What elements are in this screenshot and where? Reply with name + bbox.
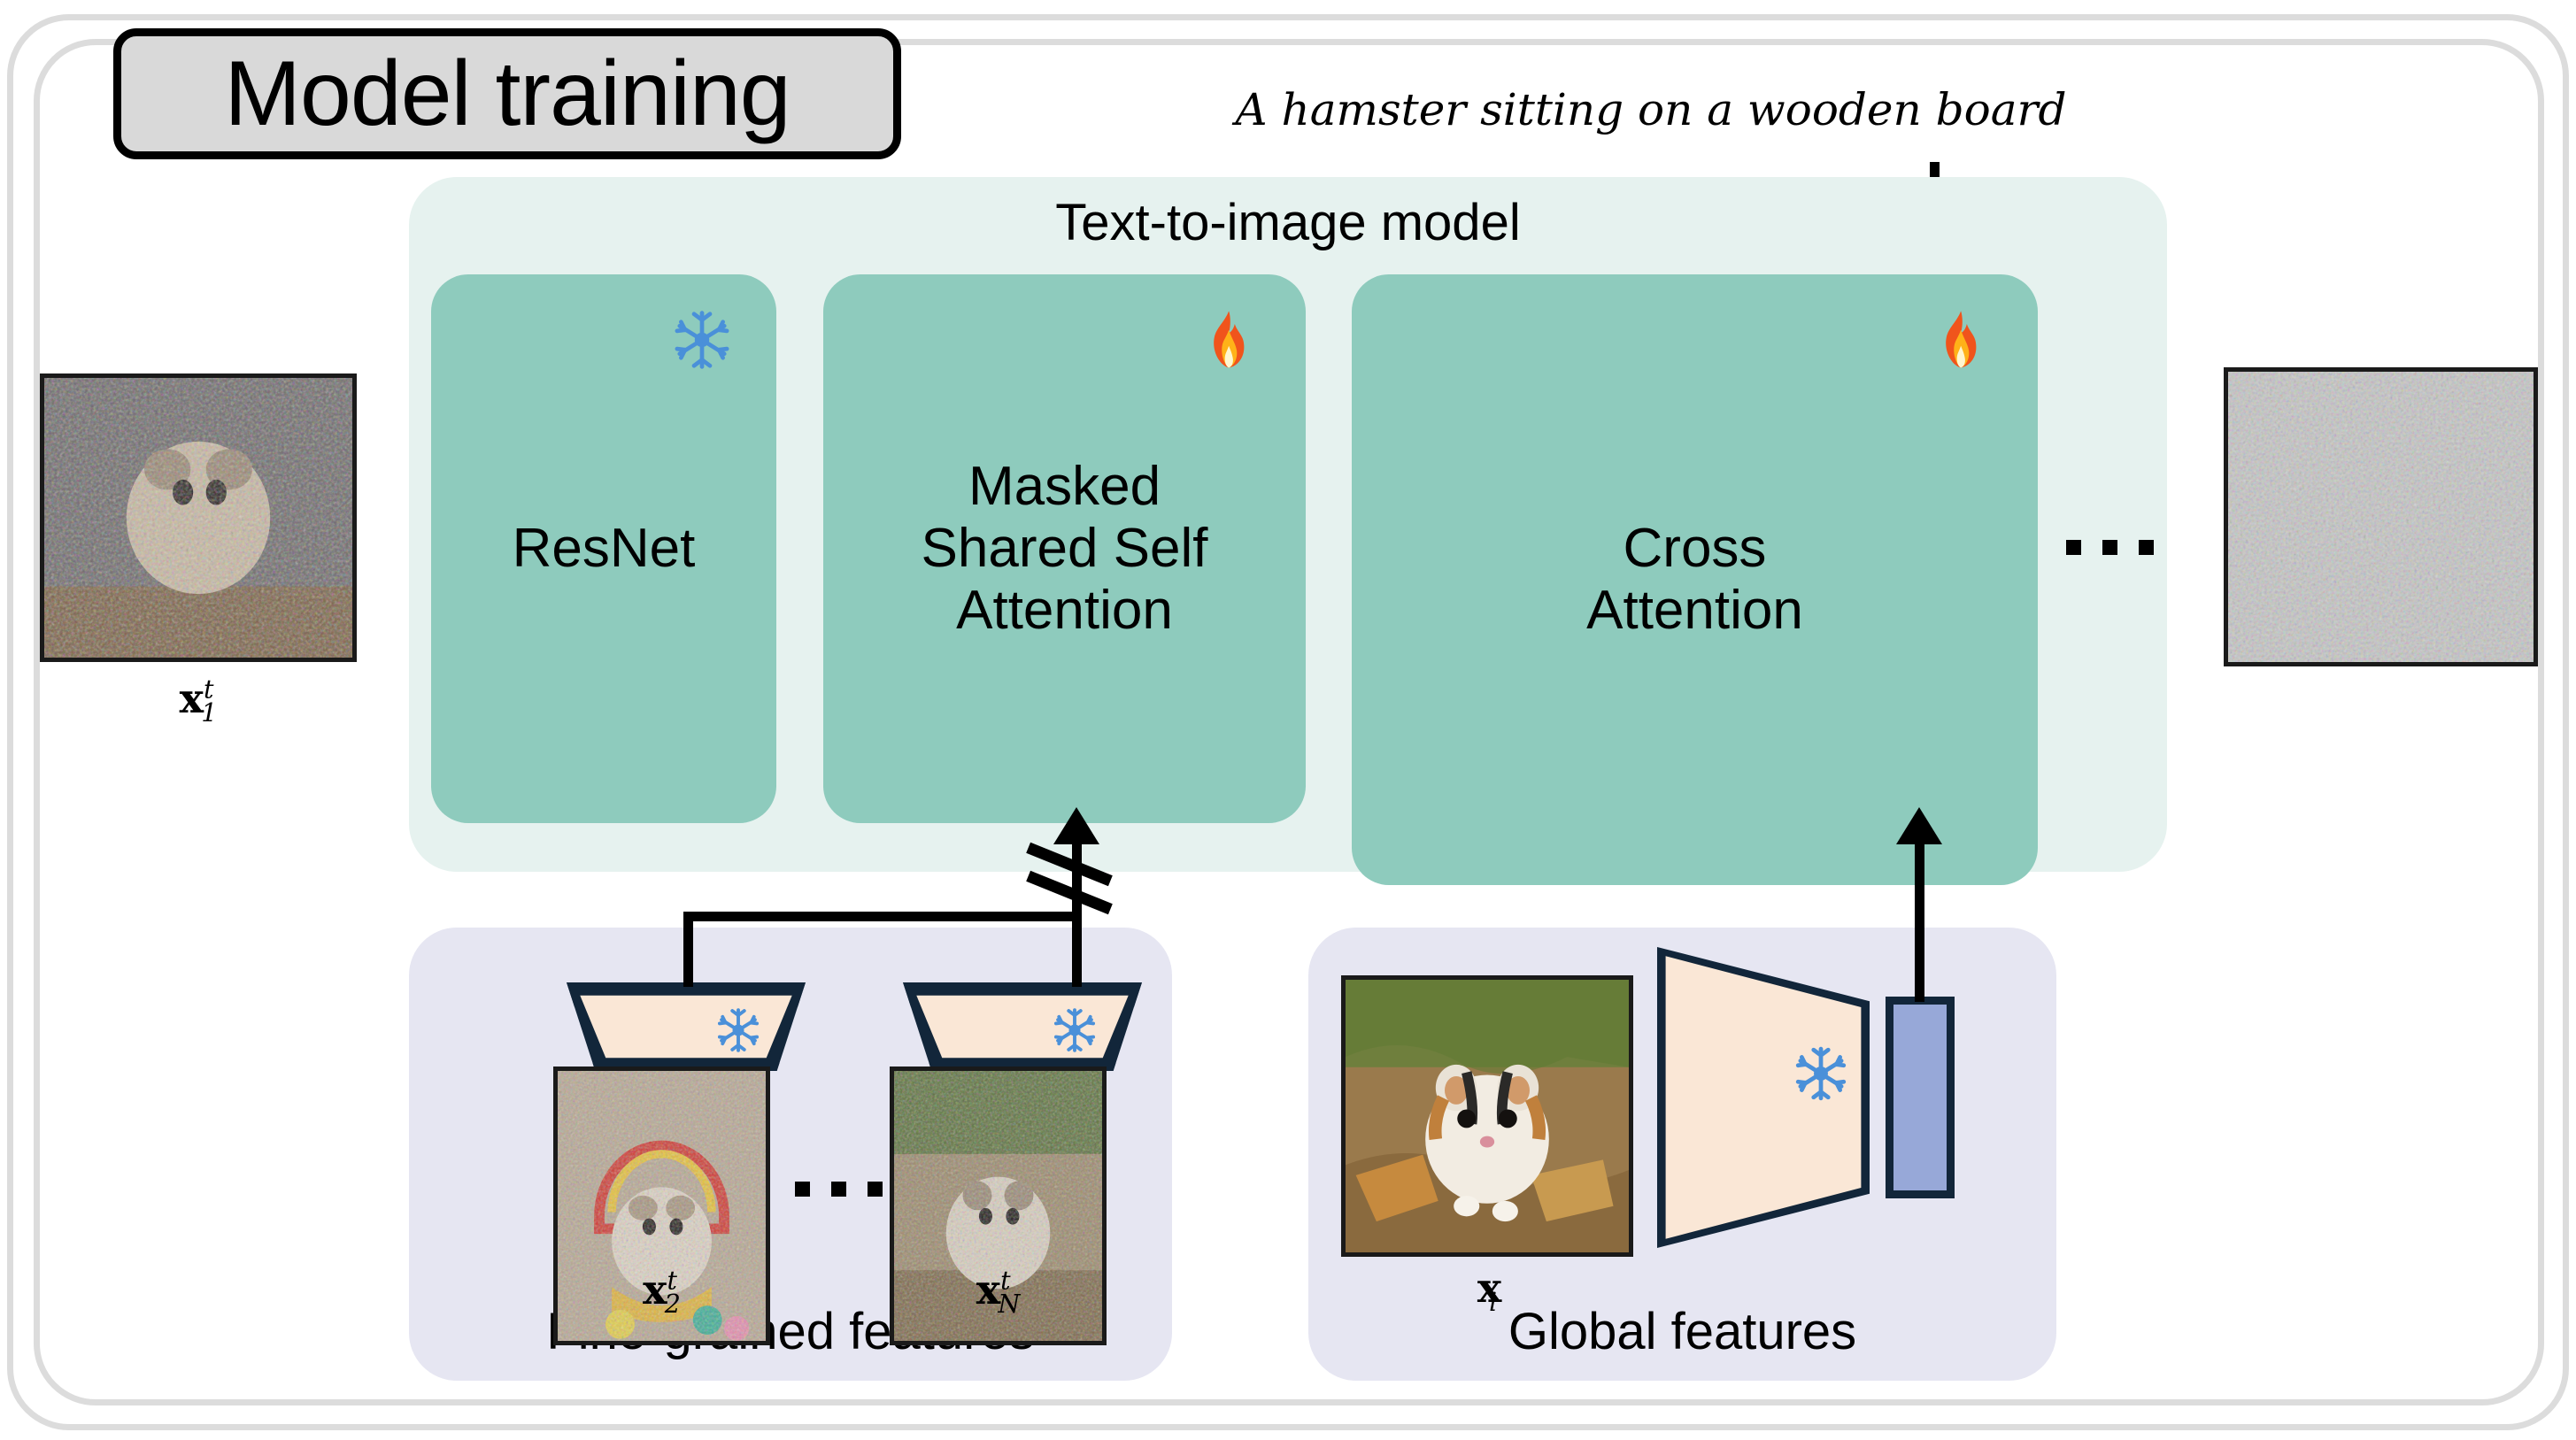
diagram-canvas: Model training A hamster sitting on a wo… — [0, 0, 2576, 1440]
fine-connector-bus — [683, 912, 1082, 921]
caption-base: x — [643, 1266, 667, 1313]
caption-sub: 2 — [665, 1290, 681, 1319]
module-masked-label: Masked Shared Self Attention — [913, 456, 1217, 642]
prompt-text: A hamster sitting on a wooden board — [1191, 84, 2111, 135]
snowflake-icon — [1792, 1044, 1850, 1107]
fire-icon — [1196, 308, 1260, 372]
fine-connector-arrowhead — [1053, 807, 1099, 844]
module-resnet-label: ResNet — [504, 518, 705, 580]
fine-grained-caption-2: xt2 — [553, 1266, 770, 1319]
caption-base: x — [180, 674, 204, 722]
model-panel-label: Text-to-image model — [409, 193, 2167, 252]
model-panel-ellipsis — [2066, 540, 2154, 555]
caption-sub: i — [1489, 1288, 1497, 1317]
module-masked-shared-self-attention[interactable]: Masked Shared Self Attention — [823, 274, 1306, 823]
fine-grained-ellipsis — [795, 1182, 883, 1197]
encoder-trapezoid-n[interactable] — [903, 982, 1142, 1071]
fine-connector-left-stem — [683, 920, 693, 987]
caption-sub: N — [998, 1290, 1020, 1319]
module-resnet[interactable]: ResNet — [431, 274, 776, 823]
caption-sub: 1 — [201, 698, 217, 728]
module-cross-attention[interactable]: Cross Attention — [1352, 274, 2038, 885]
snowflake-icon — [1051, 1006, 1099, 1059]
global-embedding-bar — [1886, 997, 1955, 1198]
page-title-chip: Model training — [113, 28, 901, 159]
fine-connector-right-stem — [1072, 912, 1082, 987]
global-connector-shaft — [1915, 843, 1924, 1002]
input-image-x1 — [40, 373, 357, 662]
global-input-image — [1341, 975, 1633, 1257]
text-to-image-model-panel: Text-to-image model — [409, 177, 2167, 872]
page-title: Model training — [224, 48, 790, 140]
fine-grained-caption-n: xtN — [890, 1266, 1107, 1319]
caption-base: x — [976, 1266, 1000, 1313]
snowflake-icon — [714, 1006, 762, 1059]
input-image-x1-caption: xt1 — [40, 674, 357, 728]
global-input-image-caption: xi — [1341, 1264, 1633, 1317]
fine-connector-riser — [1072, 843, 1082, 922]
module-cross-attention-label: Cross Attention — [1577, 518, 1812, 642]
encoder-trapezoid-2[interactable] — [567, 982, 806, 1071]
global-connector-arrowhead — [1896, 807, 1942, 844]
snowflake-icon — [670, 308, 734, 372]
output-noise-image — [2224, 367, 2538, 666]
fire-icon — [1928, 308, 1992, 372]
